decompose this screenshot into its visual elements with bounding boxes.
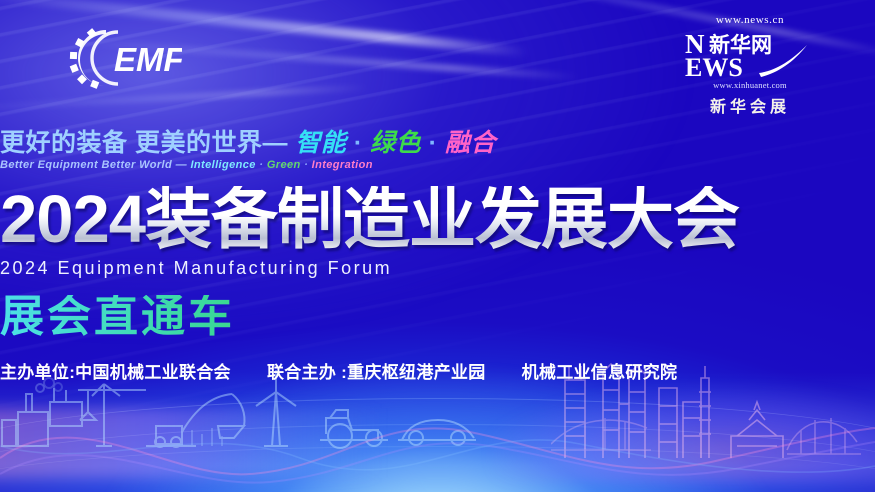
tagline-part1: 更好的装备 更美的世界— (0, 129, 288, 157)
tagline-fusion: 融合 (445, 129, 496, 157)
tagline-en-part1: Better Equipment Better World — (0, 159, 187, 171)
tagline-en-dot: · (304, 159, 308, 171)
emf-gear-icon: EMF (62, 24, 182, 92)
xinhua-wordmark: N 新华网 EWS (683, 27, 817, 79)
tagline-en-smart: Intelligence (190, 159, 255, 171)
organizers-line: 主办单位:中国机械工业联合会 联合主办 :重庆枢纽港产业园 机械工业信息研究院 (0, 358, 875, 383)
tagline-dot: · (354, 129, 363, 157)
tagline-smart: 智能 (295, 129, 346, 157)
tagline-en-green: Green (267, 159, 301, 171)
event-poster: EMF www.news.cn N 新华网 EWS www.xinhuanet.… (0, 0, 875, 492)
xinhua-url-bottom: www.xinhuanet.com (683, 80, 817, 90)
xinhua-logo: www.news.cn N 新华网 EWS www.xinhuanet.com … (683, 14, 817, 112)
subtitle-english: 2024 Equipment Manufacturing Forum (0, 258, 875, 279)
tagline-green: 绿色 (370, 129, 421, 157)
xinhua-news-icon: N 新华网 EWS (683, 27, 817, 79)
xinhua-subtitle: 新华会展 (683, 93, 817, 117)
highlight-line: 展会直通车 (0, 295, 875, 339)
xinhua-url-top: www.news.cn (683, 14, 817, 26)
co-host-organizer: 联合主办 :重庆枢纽港产业园 (267, 363, 486, 382)
tagline-en-fusion: Integration (312, 159, 373, 171)
tagline-en-dot: · (259, 159, 263, 171)
host-organizer: 主办单位:中国机械工业联合会 (0, 363, 231, 382)
emf-logo-text: EMF (114, 41, 182, 78)
tagline-english: Better Equipment Better World — Intellig… (0, 159, 875, 171)
xinhua-letters-ews: EWS (685, 53, 743, 79)
co-host-organizer-2: 机械工业信息研究院 (522, 363, 678, 382)
main-title: 2024装备制造业发展大会 (0, 186, 875, 253)
tagline: 更好的装备 更美的世界— 智能 · 绿色 · 融合 (0, 131, 875, 156)
emf-logo: EMF (62, 24, 182, 92)
tagline-dot: · (429, 129, 438, 157)
